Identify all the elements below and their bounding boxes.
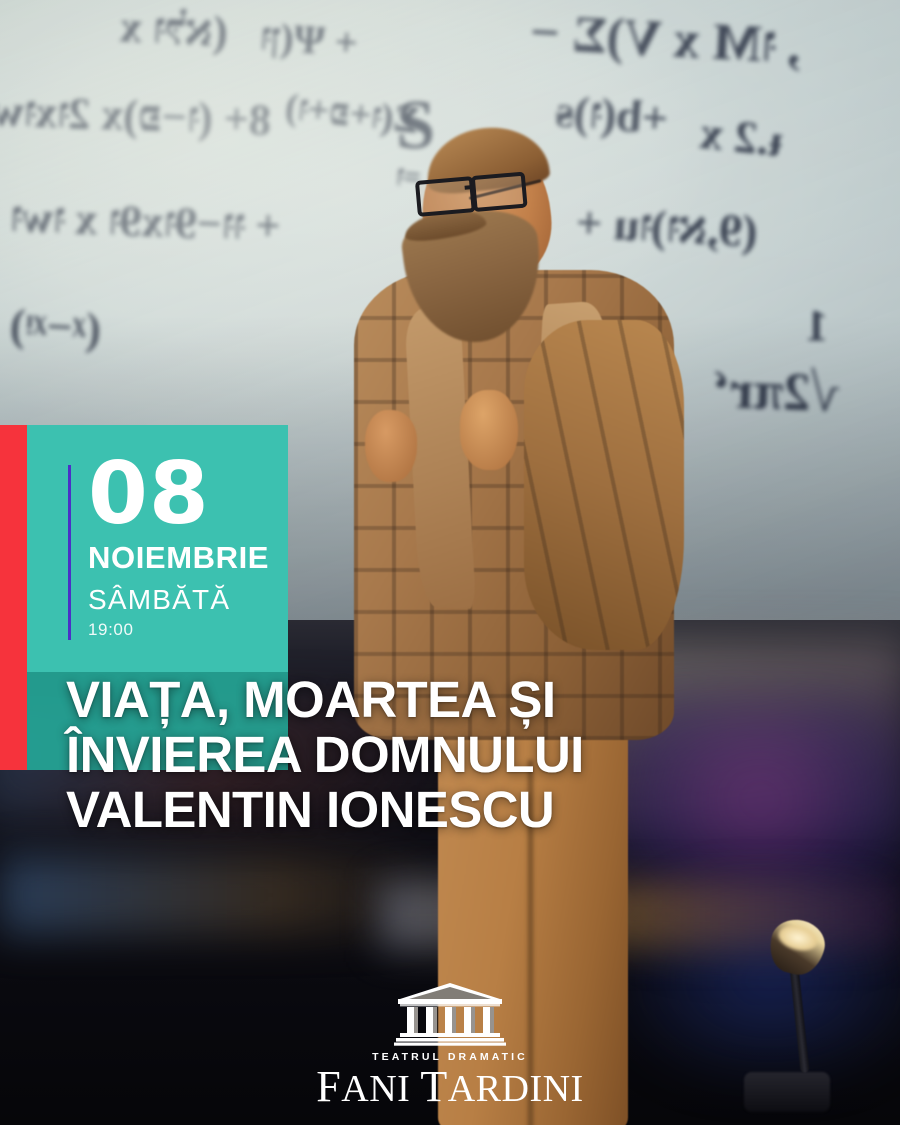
event-title-line-3: VALENTIN IONESCU	[66, 782, 876, 837]
eyeglass-lens-right	[471, 172, 528, 213]
performer-arm-right	[524, 320, 684, 650]
eyeglass-lens-left	[415, 176, 476, 217]
theater-logo-name: FANI TARDINI	[0, 1064, 900, 1110]
theater-logo-subtitle: TEATRUL DRAMATIC	[0, 1051, 900, 1063]
greek-temple-icon	[394, 982, 506, 1048]
event-poster: (וּלּא x+ Ψ(וּןƩ(וּ+פ+וּ), וּM x V)Ʃ −8+…	[0, 0, 900, 1125]
event-day-number: 08	[88, 455, 288, 534]
event-title-line-2: ÎNVIEREA DOMNULUI	[66, 727, 876, 782]
event-time-label: 19:00	[88, 621, 288, 638]
event-month-label: NOIEMBRIE	[88, 542, 288, 573]
event-date-block: 08 NOIEMBRIE SÂMBĂTĂ 19:00	[88, 455, 288, 638]
event-weekday-label: SÂMBĂTĂ	[88, 586, 288, 614]
logo-name-ani: ANI	[341, 1068, 410, 1110]
event-title-line-1: VIAȚA, MOARTEA ȘI	[66, 672, 876, 727]
performer-hand-right	[460, 390, 518, 470]
red-accent-bar	[0, 425, 27, 770]
theater-logo: TEATRUL DRAMATIC FANI TARDINI	[0, 982, 900, 1110]
performer-hand-left	[365, 410, 417, 482]
logo-name-ardini: ARDINI	[448, 1068, 584, 1110]
logo-name-f: F	[316, 1062, 341, 1111]
performer-figure	[340, 120, 760, 1020]
event-title: VIAȚA, MOARTEA ȘI ÎNVIEREA DOMNULUI VALE…	[66, 672, 876, 837]
logo-name-t: T	[420, 1062, 447, 1111]
purple-vertical-rule	[68, 465, 71, 640]
